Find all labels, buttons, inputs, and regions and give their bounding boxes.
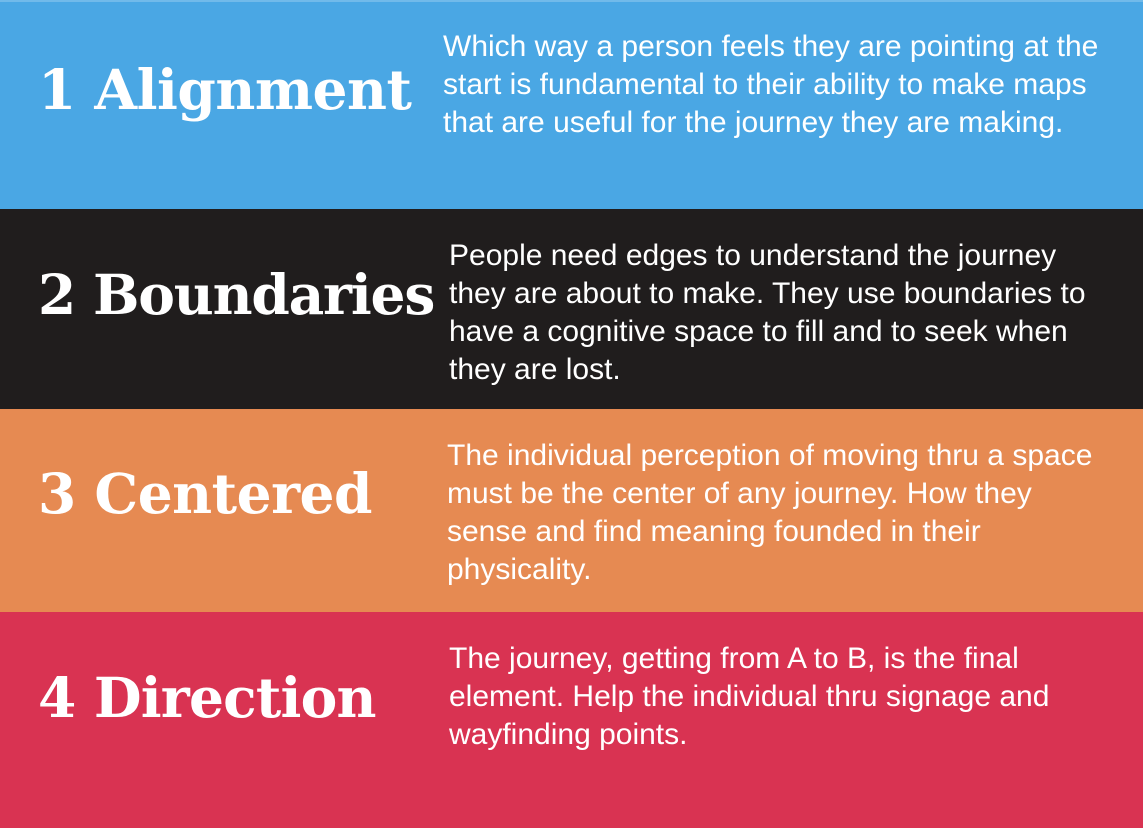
section-body-centered: The individual perception of moving thru… — [447, 437, 1109, 589]
section-body-alignment: Which way a person feels they are pointi… — [443, 28, 1103, 142]
section-direction: 4 Direction The journey, getting from A … — [0, 612, 1143, 828]
section-centered: 3 Centered The individual perception of … — [0, 409, 1143, 612]
section-body-direction: The journey, getting from A to B, is the… — [449, 640, 1099, 754]
section-heading-centered: 3 Centered — [38, 466, 372, 521]
principles-poster: 1 Alignment Which way a person feels the… — [0, 0, 1143, 828]
section-body-boundaries: People need edges to understand the jour… — [449, 237, 1114, 389]
section-boundaries: 2 Boundaries People need edges to unders… — [0, 209, 1143, 409]
section-alignment: 1 Alignment Which way a person feels the… — [0, 0, 1143, 209]
section-heading-direction: 4 Direction — [38, 670, 376, 725]
section-heading-alignment: 1 Alignment — [38, 62, 411, 117]
section-heading-boundaries: 2 Boundaries — [38, 267, 434, 322]
